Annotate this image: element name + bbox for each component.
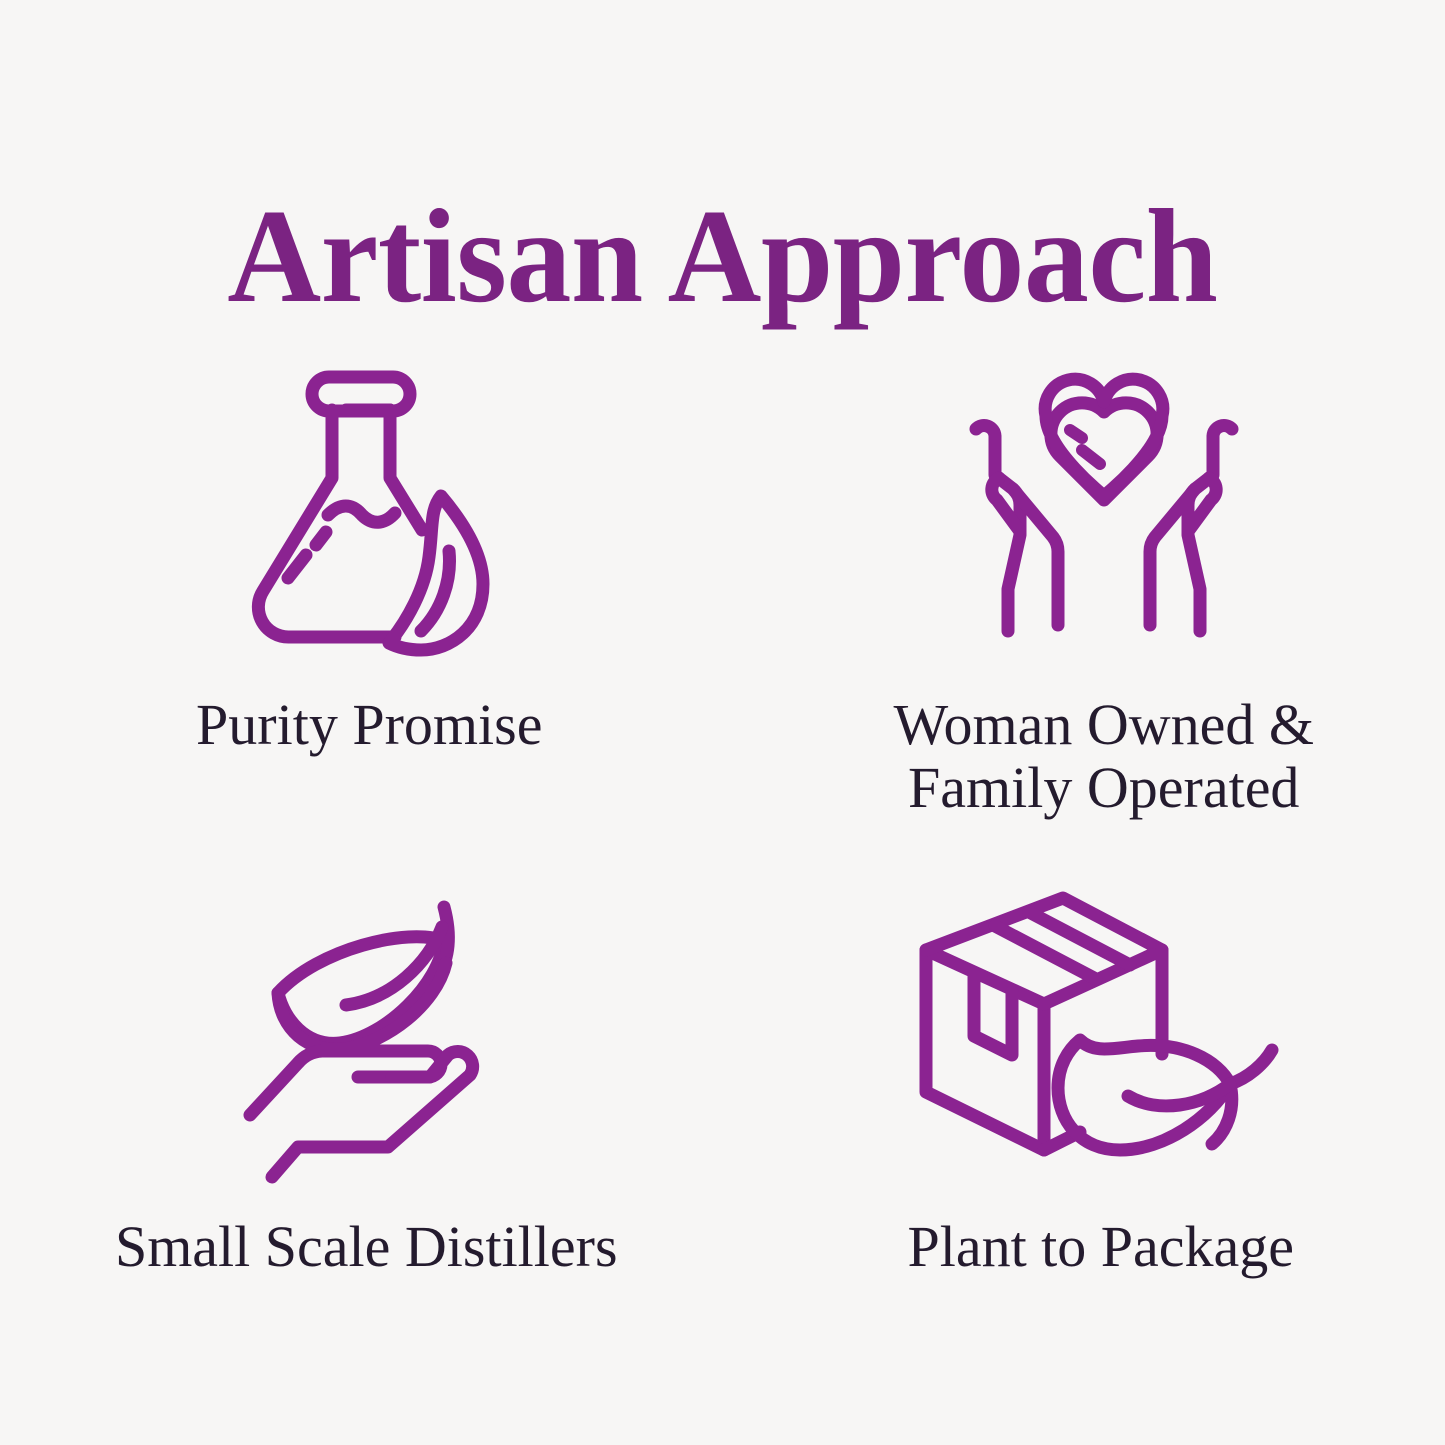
feature-label-small-scale-distillers: Small Scale Distillers	[115, 1216, 618, 1279]
feature-label-plant-to-package: Plant to Package	[907, 1216, 1294, 1279]
feature-cell-purity-promise: Purity Promise	[0, 340, 723, 860]
feature-cell-woman-owned: Woman Owned & Family Operated	[723, 340, 1445, 860]
hands-holding-heart-icon	[954, 358, 1254, 654]
flask-with-leaf-icon	[236, 358, 502, 654]
feature-label-woman-owned: Woman Owned & Family Operated	[893, 694, 1314, 819]
feature-cell-plant-to-package: Plant to Package	[723, 860, 1445, 1380]
feature-label-purity-promise: Purity Promise	[196, 694, 542, 757]
page-title: Artisan Approach	[227, 186, 1217, 327]
feature-cell-small-scale-distillers: Small Scale Distillers	[0, 860, 723, 1380]
package-box-with-leaf-icon	[916, 874, 1286, 1170]
artisan-approach-infographic: Artisan Approach	[0, 0, 1445, 1445]
features-grid: Purity Promise	[0, 340, 1445, 1380]
hand-holding-leaf-icon	[238, 874, 494, 1170]
